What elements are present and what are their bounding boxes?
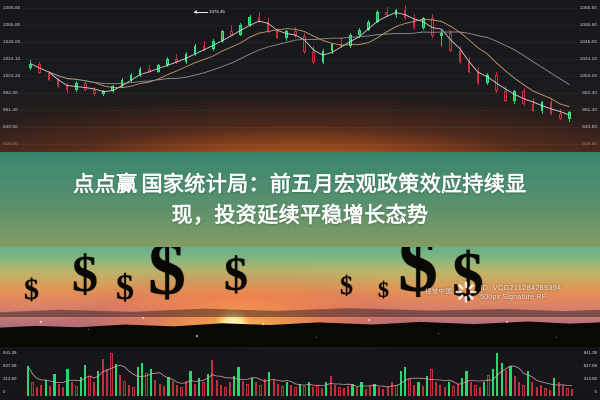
price-axis-label-left: 1024.10 xyxy=(3,57,20,62)
price-axis-label-right: 1003.20 xyxy=(580,74,597,79)
moving-average-lines xyxy=(0,0,600,152)
price-axis-label-left: 940.50 xyxy=(3,125,18,130)
watermark-license: 500px Signature RF xyxy=(480,293,561,302)
price-axis-label-left: 1065.90 xyxy=(3,23,20,28)
site-brand: 点点赢 xyxy=(73,173,137,196)
dollar-sign-silhouette: $ xyxy=(148,247,186,307)
screenshot-root: 1086.80 1065.90 1045.00 1024.10 1003.20 … xyxy=(0,0,600,400)
ma-line xyxy=(31,13,570,115)
price-axis-label-right: 919.60 xyxy=(582,142,597,147)
price-axis-label-right: 1024.10 xyxy=(580,57,597,62)
dollar-sign-silhouette: $ xyxy=(340,273,353,299)
price-axis-label-right: 1065.90 xyxy=(580,23,597,28)
volume-axis-label-left: 313.80 xyxy=(3,377,16,381)
volume-chart-panel: 941.39 627.59 313.80 0 941.39 627.59 313… xyxy=(0,347,600,400)
price-annotation: 1076.45 xyxy=(194,10,225,14)
volume-axis-label-left: 627.59 xyxy=(3,364,16,368)
bokeh-spark xyxy=(40,321,42,323)
dollar-sign-silhouette: $ xyxy=(72,249,98,301)
headline-overlay: 点点赢国家统计局：前五月宏观政策效应持续显 现，投资延续平稳增长态势 xyxy=(0,152,600,247)
price-axis-label-right: 961.40 xyxy=(582,108,597,113)
ma-line xyxy=(31,19,570,107)
dollar-sign-silhouette: $ xyxy=(378,279,389,301)
headline-text-1: 国家统计局：前五月宏观政策效应持续显 xyxy=(142,173,527,196)
headline-row-1: 点点赢国家统计局：前五月宏观政策效应持续显 xyxy=(73,169,526,200)
dollar-sign-silhouette: $ xyxy=(116,269,134,305)
headline-row-2: 现，投资延续平稳增长态势 xyxy=(172,200,429,231)
price-axis-label-left: 1003.20 xyxy=(3,74,20,79)
price-axis-label-right: 940.50 xyxy=(582,125,597,130)
watermark-logo-text: 视觉中国 xyxy=(425,289,452,296)
left-arrow-icon xyxy=(194,12,208,13)
price-axis-label-left: 961.40 xyxy=(3,108,18,113)
price-axis-label-left: 919.60 xyxy=(3,142,18,147)
volume-axis-label-right: 627.59 xyxy=(584,364,597,368)
bokeh-spark xyxy=(506,321,508,323)
price-axis-label-left: 1086.80 xyxy=(3,6,20,11)
ma-line xyxy=(31,32,570,85)
dollar-sign-silhouette: $ xyxy=(224,251,248,299)
price-axis-label-right: 1045.00 xyxy=(580,40,597,45)
price-axis-label-left: 1045.00 xyxy=(3,40,20,45)
price-axis-label-right: 982.30 xyxy=(582,91,597,96)
vcg-starburst-icon xyxy=(455,281,477,303)
distant-ridge xyxy=(0,301,600,317)
vcg-watermark: 视觉中国 ID: VCG211284289394 500px Signature… xyxy=(425,281,561,303)
price-axis-label-right: 1086.80 xyxy=(580,6,597,11)
bokeh-spark xyxy=(262,323,264,325)
price-axis-label-left: 982.30 xyxy=(3,91,18,96)
bokeh-spark xyxy=(142,317,144,319)
volume-ma-line xyxy=(28,365,572,387)
volume-axis-label-left: 0 xyxy=(3,390,5,394)
volume-axis-label-right: 313.80 xyxy=(584,377,597,381)
bokeh-spark xyxy=(196,335,198,337)
dollar-sign-silhouette: $ xyxy=(24,275,39,305)
price-annotation-value: 1076.45 xyxy=(209,10,225,14)
watermark-text-block: ID: VCG211284289394 500px Signature RF xyxy=(480,283,561,302)
volume-axis-label-right: 0 xyxy=(595,390,597,394)
volume-axis-label-left: 941.39 xyxy=(3,351,16,355)
volume-axis-label-right: 941.39 xyxy=(584,351,597,355)
watermark-id: ID: VCG211284289394 xyxy=(480,283,561,292)
volume-moving-average xyxy=(0,347,600,400)
price-chart-panel: 1086.80 1065.90 1045.00 1024.10 1003.20 … xyxy=(0,0,600,152)
bokeh-spark xyxy=(368,319,370,321)
